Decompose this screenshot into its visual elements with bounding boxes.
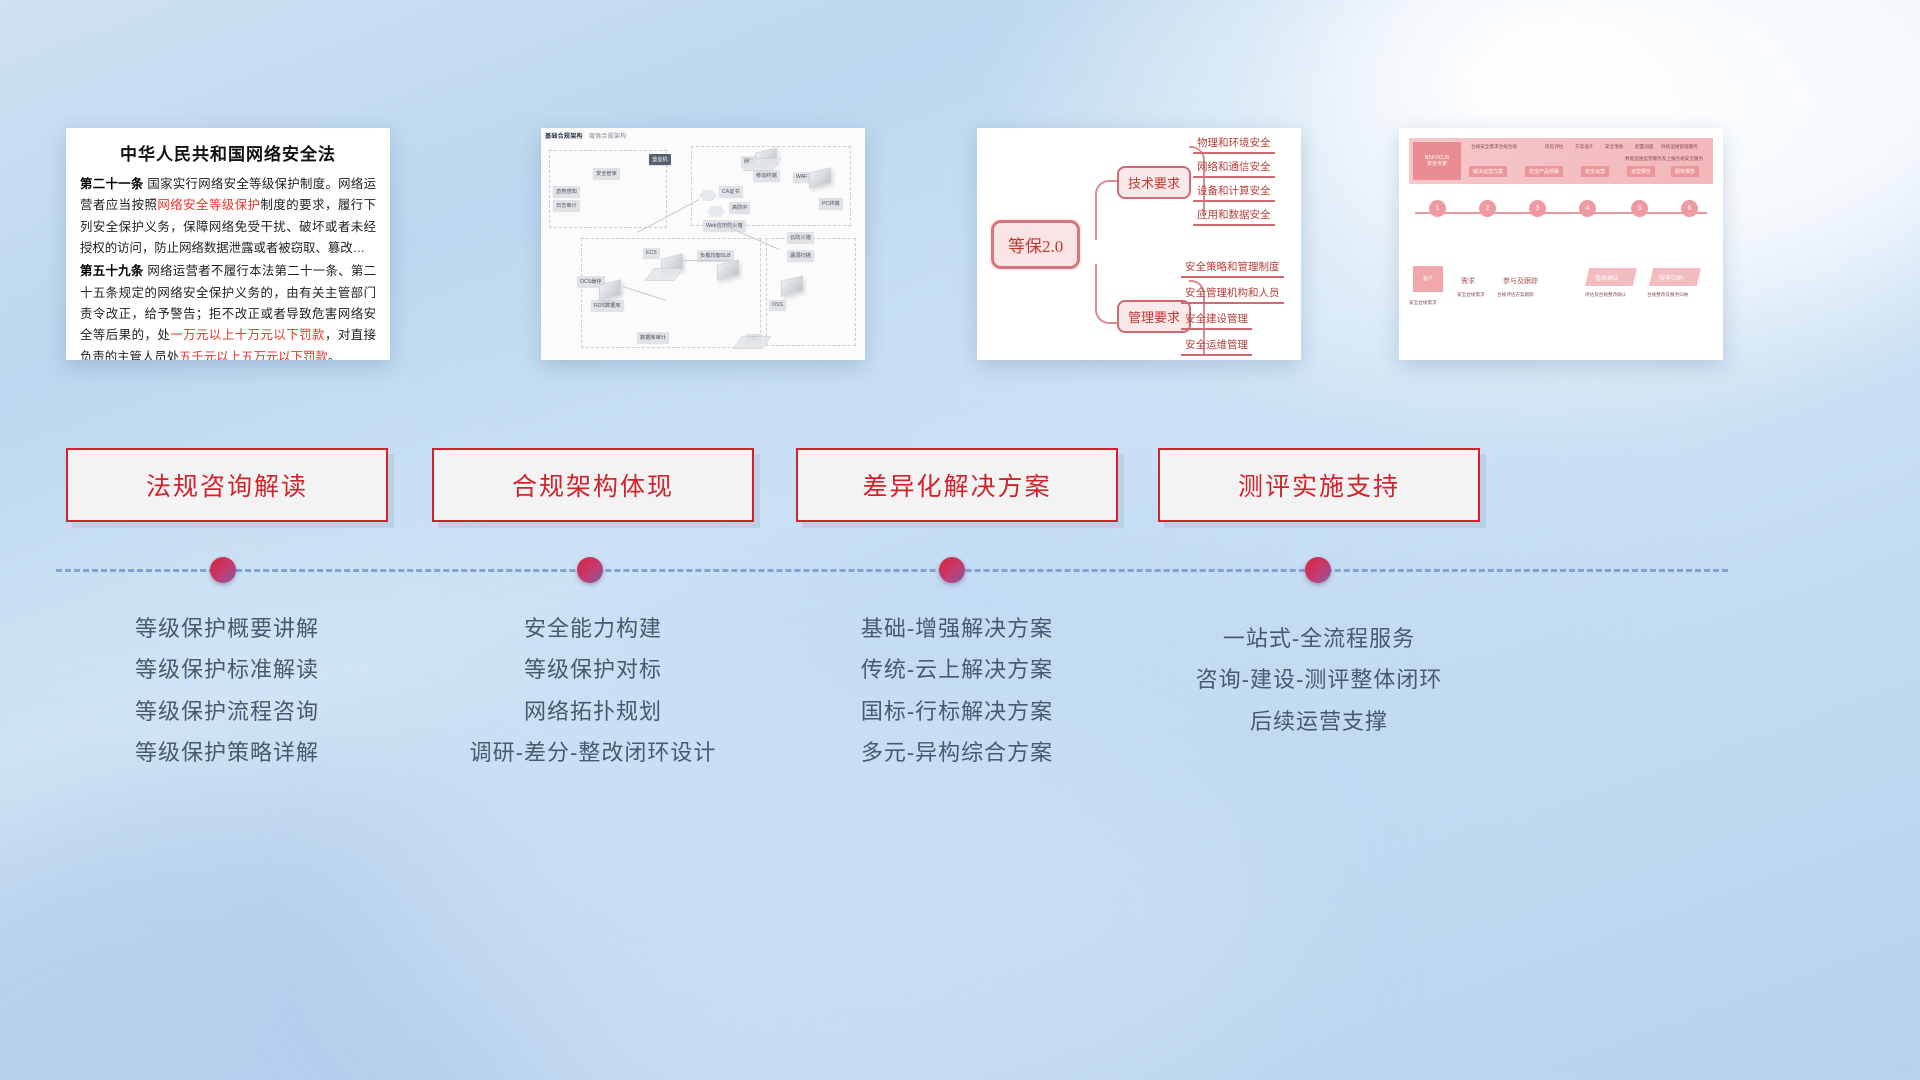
nsfocus-customer-label: 客户	[1423, 276, 1433, 283]
nsfocus-logo: NSFOCUS 安全专家	[1413, 142, 1461, 180]
pillar-heading-1-label: 法规咨询解读	[146, 467, 308, 503]
mindmap-leaf-construction-mgmt: 安全建设管理	[1181, 310, 1252, 330]
law-article-59: 第五十九条 网络运营者不履行本法第二十一条、第二十五条规定的网络安全保护义务的，…	[80, 261, 376, 360]
nsfocus-step-3: 3	[1529, 200, 1546, 217]
mindmap-leaf-physical-env: 物理和环境安全	[1193, 134, 1275, 154]
list-item: 等级保护策略详解	[66, 732, 388, 773]
list-item: 一站式-全流程服务	[1158, 618, 1480, 659]
list-item: 等级保护标准解读	[66, 649, 388, 690]
nsfocus-step-2: 2	[1479, 200, 1496, 217]
arch-node-oss: OSS	[769, 300, 786, 310]
arch-node-anti-ddos: 高防IP	[729, 202, 750, 213]
nsfocus-bottom-tag-1: 参与及跟踪	[1503, 276, 1538, 286]
nsfocus-chip-4: 服务报告	[1671, 166, 1699, 177]
list-item: 等级保护概要讲解	[66, 608, 388, 649]
law-title: 中华人民共和国网络安全法	[80, 140, 376, 165]
arch-link-2	[677, 260, 729, 261]
timeline-marker-3[interactable]	[939, 557, 965, 583]
mindmap-leaf-ops-mgmt: 安全运维管理	[1181, 336, 1252, 356]
pillar-bullets-3: 基础-增强解决方案 传统-云上解决方案 国标-行标解决方案 多元-异构综合方案	[796, 608, 1118, 773]
architecture-tabs: 基础合规架构 增强合规架构	[545, 131, 627, 140]
law-article-59-text-end: 。	[328, 350, 340, 360]
card-nsfocus-service-flow[interactable]: NSFOCUS 安全专家 合规安全需求合规合规 风险评估 方案设计 安全落地 配…	[1399, 128, 1723, 360]
nsfocus-step-6: 6	[1681, 200, 1698, 217]
pillar-heading-row: 法规咨询解读 合规架构体现 差异化解决方案 测评实施支持	[0, 448, 1920, 522]
mindmap-branch-technical: 技术要求	[1117, 166, 1191, 199]
pillar-heading-3-label: 差异化解决方案	[862, 467, 1051, 503]
arch-node-ecs: ECS	[643, 248, 660, 258]
arch-node-pc-terminal: PC终端	[819, 198, 843, 209]
list-item: 国标-行标解决方案	[796, 691, 1118, 732]
nsfocus-step-4: 4	[1579, 200, 1596, 217]
nsfocus-bottom-tag-2: 整改确认	[1595, 273, 1619, 282]
law-article-59-highlight-1: 一万元以上十万元以下罚款	[170, 328, 325, 342]
nsfocus-top-tag-5: 持续运维管理服务	[1661, 144, 1698, 150]
mindmap-leaf-org-personnel: 安全管理机构和人员	[1181, 284, 1284, 304]
pillar-bullets-4: 一站式-全流程服务 咨询-建设-测评整体闭环 后续运营支撑	[1158, 618, 1480, 742]
card-cloud-architecture[interactable]: 基础合规架构 增强合规架构 堡垒机 安全管家 态势感知 日志审计 WAF Web…	[541, 128, 865, 360]
list-item: 等级保护流程咨询	[66, 691, 388, 732]
arch-node-vuln-scan: 漏洞扫描	[787, 250, 814, 261]
nsfocus-bottom-sub-0: 安全合规需求	[1457, 292, 1485, 298]
nsfocus-customer-subtag: 安全合规需求	[1409, 300, 1437, 306]
timeline-marker-4[interactable]	[1305, 557, 1331, 583]
timeline-dashed-line	[56, 569, 1728, 572]
nsfocus-customer-icon: 客户	[1413, 266, 1443, 292]
law-article-59-number: 第五十九条	[80, 264, 144, 278]
nsfocus-chip-0: 解决运营方案	[1469, 166, 1507, 177]
law-article-21-number: 第二十一条	[80, 177, 144, 191]
nsfocus-bottom-tag-3: 服务归纳	[1659, 273, 1683, 282]
arch-node-log-audit: 日志审计	[553, 200, 580, 211]
pillar-heading-3[interactable]: 差异化解决方案	[796, 448, 1118, 522]
law-article-59-highlight-2: 五千元以上五万元以下罚款	[179, 350, 328, 360]
nsfocus-step-1: 1	[1429, 200, 1446, 217]
mindmap-root: 等保2.0	[991, 220, 1080, 269]
mindmap-leaf-policy-system: 安全策略和管理制度	[1181, 258, 1284, 278]
pillar-bullets-2: 安全能力构建 等级保护对标 网络拓扑规划 调研-差分-整改闭环设计	[432, 608, 754, 773]
arch-node-db-audit: 数据库审计	[637, 332, 669, 343]
nsfocus-step-5: 5	[1631, 200, 1648, 217]
law-card-body: 中华人民共和国网络安全法 第二十一条 国家实行网络安全等级保护制度。网络运营者应…	[66, 128, 390, 360]
nsfocus-chip-1: 安全产品部署	[1525, 166, 1563, 177]
arch-node-cloud-firewall: 云防火墙	[787, 232, 814, 243]
list-item: 安全能力构建	[432, 608, 754, 649]
nsfocus-timeline-line	[1415, 212, 1707, 214]
law-article-21: 第二十一条 国家实行网络安全等级保护制度。网络运营者应当按照网络安全等级保护制度…	[80, 174, 376, 259]
list-item: 基础-增强解决方案	[796, 608, 1118, 649]
tab-enhanced-compliance[interactable]: 增强合规架构	[589, 134, 627, 140]
law-article-21-highlight: 网络安全等级保护	[157, 198, 260, 212]
architecture-diagram: 基础合规架构 增强合规架构 堡垒机 安全管家 态势感知 日志审计 WAF Web…	[541, 128, 865, 360]
timeline	[0, 560, 1920, 600]
arch-node-waf: WAF	[793, 172, 810, 182]
mindmap: 等保2.0 技术要求 管理要求 物理和环境安全 网络和通信安全 设备和计算安全 …	[977, 128, 1301, 360]
arch-node-rds: RDS数据库	[591, 300, 624, 311]
pillar-heading-1[interactable]: 法规咨询解读	[66, 448, 388, 522]
list-item: 多元-异构综合方案	[796, 732, 1118, 773]
nsfocus-top-tag-4: 配置加固	[1635, 144, 1653, 150]
pillar-heading-4[interactable]: 测评实施支持	[1158, 448, 1480, 522]
pillar-heading-4-label: 测评实施支持	[1238, 467, 1400, 503]
mindmap-leaf-device-compute: 设备和计算安全	[1193, 182, 1275, 202]
nsfocus-chip-3: 运营报告	[1627, 166, 1655, 177]
timeline-marker-1[interactable]	[210, 557, 236, 583]
nsfocus-bottom-tag-0: 需求	[1461, 276, 1475, 286]
arch-node-security-butler: 安全管家	[593, 168, 620, 179]
card-cybersecurity-law[interactable]: 中华人民共和国网络安全法 第二十一条 国家实行网络安全等级保护制度。网络运营者应…	[66, 128, 390, 360]
nsfocus-diagram: NSFOCUS 安全专家 合规安全需求合规合规 风险评估 方案设计 安全落地 配…	[1399, 128, 1723, 360]
pillar-bullets-1: 等级保护概要讲解 等级保护标准解读 等级保护流程咨询 等级保护策略详解	[66, 608, 388, 773]
list-item: 网络拓扑规划	[432, 691, 754, 732]
nsfocus-bottom-sub-1: 合规评估方案跟踪	[1497, 292, 1534, 298]
list-item: 调研-差分-整改闭环设计	[432, 732, 754, 773]
arch-node-mobile-terminal: 移动终端	[753, 170, 780, 181]
list-item: 后续运营支撑	[1158, 701, 1480, 742]
background-blob-bottom-left	[0, 800, 580, 1080]
nsfocus-bottom-sub-3: 合规整改及服务归纳	[1647, 292, 1688, 298]
nsfocus-chip-2: 安全运营	[1581, 166, 1609, 177]
mindmap-leaf-app-data: 应用和数据安全	[1193, 206, 1275, 226]
image-card-row: 中华人民共和国网络安全法 第二十一条 国家实行网络安全等级保护制度。网络运营者应…	[0, 128, 1920, 364]
arch-node-bastion: 堡垒机	[649, 154, 671, 165]
nsfocus-top-tag-2: 方案设计	[1575, 144, 1593, 150]
list-item: 传统-云上解决方案	[796, 649, 1118, 690]
nsfocus-top-tag-1: 风险评估	[1545, 144, 1563, 150]
card-mindmap-dengbao[interactable]: 等保2.0 技术要求 管理要求 物理和环境安全 网络和通信安全 设备和计算安全 …	[977, 128, 1301, 360]
timeline-marker-2[interactable]	[577, 557, 603, 583]
pillar-heading-2-label: 合规架构体现	[512, 467, 674, 503]
nsfocus-logo-line2: 安全专家	[1427, 161, 1447, 168]
list-item: 等级保护对标	[432, 649, 754, 690]
list-item: 咨询-建设-测评整体闭环	[1158, 659, 1480, 700]
nsfocus-bottom-sub-2: 评估及合规整改确认	[1585, 292, 1626, 298]
nsfocus-top-tag-3: 安全落地	[1605, 144, 1623, 150]
mindmap-branch-management: 管理要求	[1117, 300, 1191, 333]
mindmap-leaf-network-comm: 网络和通信安全	[1193, 158, 1275, 178]
arch-node-ca-cert: CA证书	[719, 186, 743, 197]
nsfocus-top-tag-6: 数据运维运营服务及上报合规安全服务	[1625, 156, 1703, 162]
arch-node-situation-awareness: 态势感知	[553, 186, 580, 197]
pillar-heading-2[interactable]: 合规架构体现	[432, 448, 754, 522]
tab-basic-compliance[interactable]: 基础合规架构	[545, 134, 583, 140]
nsfocus-top-tag-0: 合规安全需求合规合规	[1471, 144, 1517, 150]
